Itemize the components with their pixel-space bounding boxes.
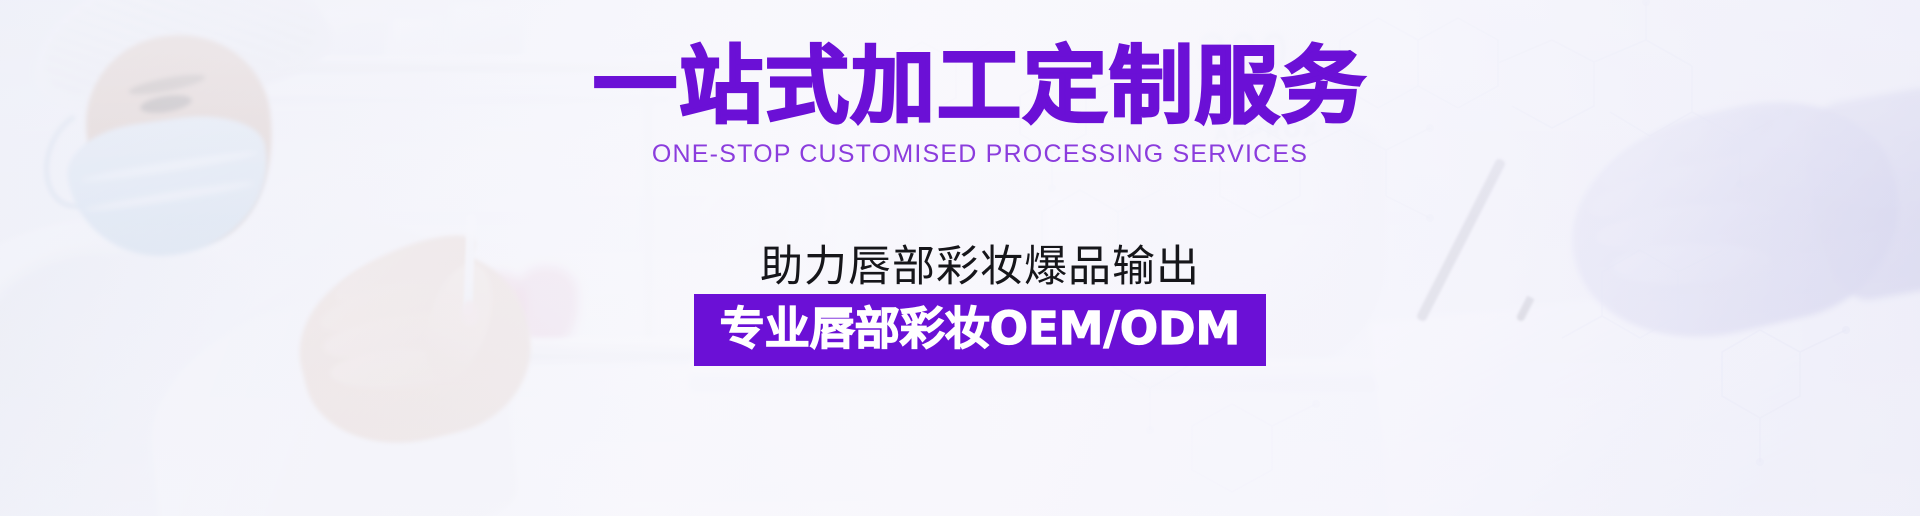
banner-content: 一站式加工定制服务 ONE-STOP CUSTOMISED PROCESSING…: [0, 0, 1920, 516]
banner-main-title: 一站式加工定制服务: [0, 40, 1920, 132]
promo-banner: 200 APPROX: [0, 0, 1920, 516]
banner-tagline: 助力唇部彩妆爆品输出: [0, 232, 1920, 294]
banner-badge-row: 专业唇部彩妆OEM/ODM: [0, 294, 1920, 366]
banner-sub-title: ONE-STOP CUSTOMISED PROCESSING SERVICES: [0, 140, 1920, 169]
banner-service-badge: 专业唇部彩妆OEM/ODM: [694, 294, 1267, 366]
